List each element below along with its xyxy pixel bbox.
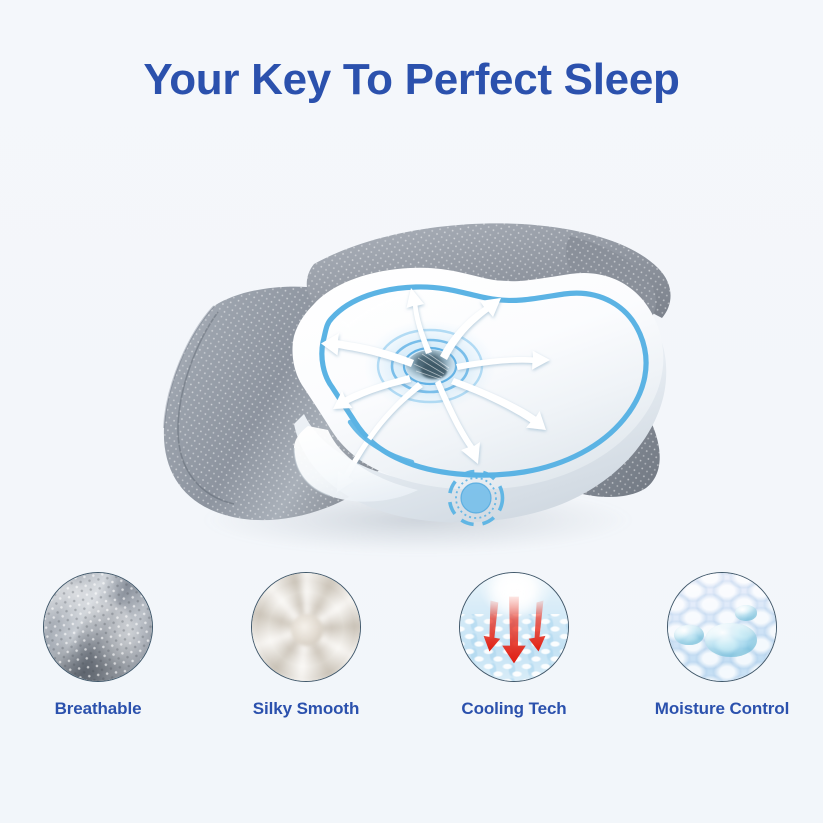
water-droplet xyxy=(674,625,703,646)
mesh-dot-pattern xyxy=(43,572,153,682)
heat-arrow-right xyxy=(529,600,546,651)
feature-item-breathable[interactable]: Breathable xyxy=(3,572,193,787)
feature-image-silky-smooth xyxy=(251,572,361,682)
feature-label-breathable: Breathable xyxy=(3,699,193,719)
page-title: Your Key To Perfect Sleep xyxy=(0,56,823,104)
hero-product-section xyxy=(0,128,823,558)
water-droplet xyxy=(735,605,757,620)
feature-image-cooling-tech xyxy=(459,572,569,682)
feature-item-silky-smooth[interactable]: Silky Smooth xyxy=(211,572,401,787)
feature-image-breathable xyxy=(43,572,153,682)
silky-fabric-texture xyxy=(252,573,360,681)
cooling-fabric-texture xyxy=(460,573,568,681)
feature-label-cooling-tech: Cooling Tech xyxy=(419,699,609,719)
feature-item-moisture-control[interactable]: Moisture Control xyxy=(627,572,817,787)
feature-image-moisture-control xyxy=(667,572,777,682)
heat-arrow-center xyxy=(502,597,526,664)
moisture-fabric-texture xyxy=(668,573,776,681)
feature-label-silky-smooth: Silky Smooth xyxy=(211,699,401,719)
pillow-product-image xyxy=(118,128,718,558)
feature-item-cooling-tech[interactable]: Cooling Tech xyxy=(419,572,609,787)
product-feature-banner: Your Key To Perfect Sleep xyxy=(0,0,823,823)
heat-arrow-left xyxy=(484,600,501,651)
feature-label-moisture-control: Moisture Control xyxy=(627,699,817,719)
water-droplet xyxy=(705,623,757,658)
breathable-fabric-texture xyxy=(44,573,152,681)
feature-highlights-row: Breathable Silky Smooth xyxy=(0,572,823,787)
